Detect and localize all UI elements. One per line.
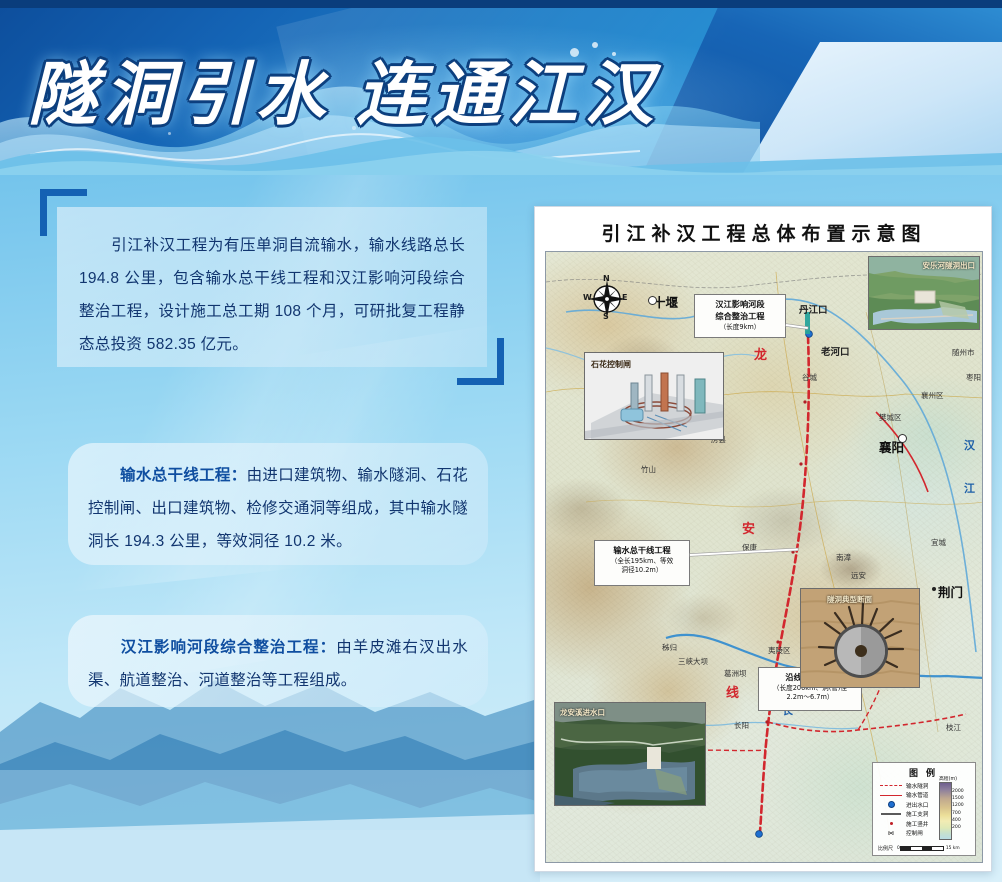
compass-s: S: [603, 312, 609, 321]
hanjiang-paragraph: 汉江影响河段综合整治工程：由羊皮滩右汊出水渠、航道整治、河道整治等工程组成。: [88, 631, 468, 697]
dashed-red-line-icon: [879, 785, 903, 786]
main-line-panel: 输水总干线工程：由进口建筑物、输水隧洞、石花控制闸、出口建筑物、检修交通洞等组成…: [68, 443, 488, 565]
elevation-colorbar: [939, 782, 952, 840]
map-legend: 图例 输水隧洞 输水管道 进出水口 施工支洞: [872, 762, 976, 856]
legend-label: 进出水口: [906, 801, 928, 809]
city-label-yiling: 夷陵区: [768, 645, 791, 656]
callout-mainline-sub2: 洞径10.2m）: [595, 566, 689, 576]
header-bottom-wave: [0, 117, 1002, 175]
inset-caption-section: 隧洞典型断面: [827, 594, 872, 605]
callout-hanjiang-sub: （长度9km）: [695, 323, 785, 333]
scalebar-bar: [900, 846, 944, 851]
left-content-column: 引江补汉工程为有压单洞自流输水，输水线路总长 194.8 公里，包含输水总干线工…: [0, 175, 530, 882]
inset-tunnel-section[interactable]: 隧洞典型断面: [800, 588, 920, 688]
elevation-tick: 2000: [952, 788, 964, 795]
legend-label: 施工竖井: [906, 820, 928, 828]
legend-label: 控制闸: [906, 829, 923, 837]
river-label-han: 汉: [964, 437, 975, 453]
blue-dot-icon: [879, 801, 903, 808]
city-label-laohekou: 老河口: [821, 344, 850, 358]
city-marker: [898, 434, 907, 443]
city-label-yicheng: 宜城: [931, 537, 946, 548]
map-card: 引江补汉工程总体布置示意图: [534, 206, 992, 872]
map-frame[interactable]: N S E W 十堰 丹江口 老河口 襄阳 襄州区 樊城区 宜城 南漳 荆门 保…: [545, 251, 983, 863]
intro-paragraph: 引江补汉工程为有压单洞自流输水，输水线路总长 194.8 公里，包含输水总干线工…: [79, 229, 465, 361]
inset-shihua-gate[interactable]: 石花控制闸: [584, 352, 724, 440]
map-title: 引江补汉工程总体布置示意图: [535, 219, 993, 246]
legend-label: 输水隧洞: [906, 782, 928, 790]
elevation-caption: 高程(m): [939, 775, 971, 782]
solid-red-line-icon: [879, 795, 903, 796]
elevation-legend: 高程(m) 2000 1500 1200 700 400 200: [939, 775, 971, 840]
callout-mainline-sub: （全长195km、等效: [595, 557, 689, 567]
inset-outlet-aerial[interactable]: 安乐河隧洞出口: [868, 256, 980, 330]
city-label-zhushan: 竹山: [641, 464, 656, 475]
inset-caption-intake: 龙安溪进水口: [560, 707, 605, 718]
hanjiang-lead: 汉江影响河段综合整治工程：: [120, 639, 336, 656]
compass-rose: N S E W: [584, 276, 630, 322]
scalebar-tick-3: 15 km: [946, 846, 960, 851]
callout-hanjiang-reach[interactable]: 汉江影响河段 综合整治工程 （长度9km）: [694, 294, 786, 338]
elevation-tick: 1500: [952, 795, 964, 802]
city-label-danjiangkou: 丹江口: [799, 302, 828, 316]
intro-panel: 引江补汉工程为有压单洞自流输水，输水线路总长 194.8 公里，包含输水总干线工…: [57, 207, 487, 367]
inset-caption-shihua: 石花控制闸: [591, 359, 631, 370]
gate-icon: ⋈: [879, 830, 903, 837]
city-label-suizhou: 随州市: [952, 347, 975, 358]
callout-mainline-title: 输水总干线工程: [595, 545, 689, 557]
city-dot: [932, 587, 936, 591]
main-line-lead: 输水总干线工程：: [120, 467, 247, 484]
legend-label: 输水管道: [906, 791, 928, 799]
compass-w: W: [583, 293, 592, 302]
callout-main-line[interactable]: 输水总干线工程 （全长195km、等效 洞径10.2m）: [594, 540, 690, 586]
compass-n: N: [603, 274, 610, 283]
map-scalebar: 比例尺 0 15 km: [878, 845, 960, 852]
city-marker: [648, 296, 657, 305]
elevation-tick: 400: [952, 817, 964, 824]
callout-hanjiang-title-1: 汉江影响河段: [695, 299, 785, 311]
infographic-poster: 隧洞引水 连通江汉 引江补汉工程为有压单洞自流输水，输水线路总长 194.8 公…: [0, 0, 1002, 882]
city-label-sanxia-dam: 三峡大坝: [678, 656, 708, 667]
route-label-char-1: 安: [742, 518, 755, 537]
inset-intake-aerial[interactable]: 龙安溪进水口: [554, 702, 706, 806]
city-label-zhijiang: 枝江: [946, 722, 961, 733]
callout-supply-sub2: 2.2m～6.7m）: [759, 693, 861, 703]
compass-e: E: [622, 293, 627, 302]
city-label-gezhouba: 葛洲坝: [724, 668, 747, 679]
city-label-fancheng: 樊城区: [879, 412, 902, 423]
river-label-jiang: 江: [964, 480, 975, 496]
city-label-nanzhang: 南漳: [836, 552, 851, 563]
elevation-tick: 700: [952, 810, 964, 817]
elevation-tick: 1200: [952, 802, 964, 809]
route-label-char-0: 龙: [754, 344, 767, 363]
legend-label: 施工支洞: [906, 810, 928, 818]
city-label-zaoyang: 枣阳: [966, 372, 981, 383]
header-top-strip: [0, 0, 1002, 8]
hanjiang-panel: 汉江影响河段综合整治工程：由羊皮滩右汊出水渠、航道整治、河道整治等工程组成。: [68, 615, 488, 707]
scalebar-label: 比例尺: [878, 845, 893, 852]
gray-line-icon: [879, 813, 903, 815]
city-label-xiangzhou: 襄州区: [921, 390, 944, 401]
city-label-jingmen: 荆门: [938, 582, 963, 601]
city-label-gucheng: 谷城: [802, 372, 817, 383]
city-label-changyang: 长阳: [734, 720, 749, 731]
red-dot-icon: [879, 822, 903, 825]
elevation-tick: 200: [952, 824, 964, 831]
route-label-char-2: 线: [726, 682, 739, 701]
poster-header: 隧洞引水 连通江汉: [0, 0, 1002, 175]
city-label-yuanan: 远安: [851, 570, 866, 581]
main-line-paragraph: 输水总干线工程：由进口建筑物、输水隧洞、石花控制闸、出口建筑物、检修交通洞等组成…: [88, 459, 468, 558]
elevation-ticks: 2000 1500 1200 700 400 200: [952, 788, 964, 831]
inset-caption-outlet: 安乐河隧洞出口: [923, 260, 976, 271]
city-label-zigui: 秭归: [662, 642, 677, 653]
callout-hanjiang-title-2: 综合整治工程: [695, 311, 785, 323]
